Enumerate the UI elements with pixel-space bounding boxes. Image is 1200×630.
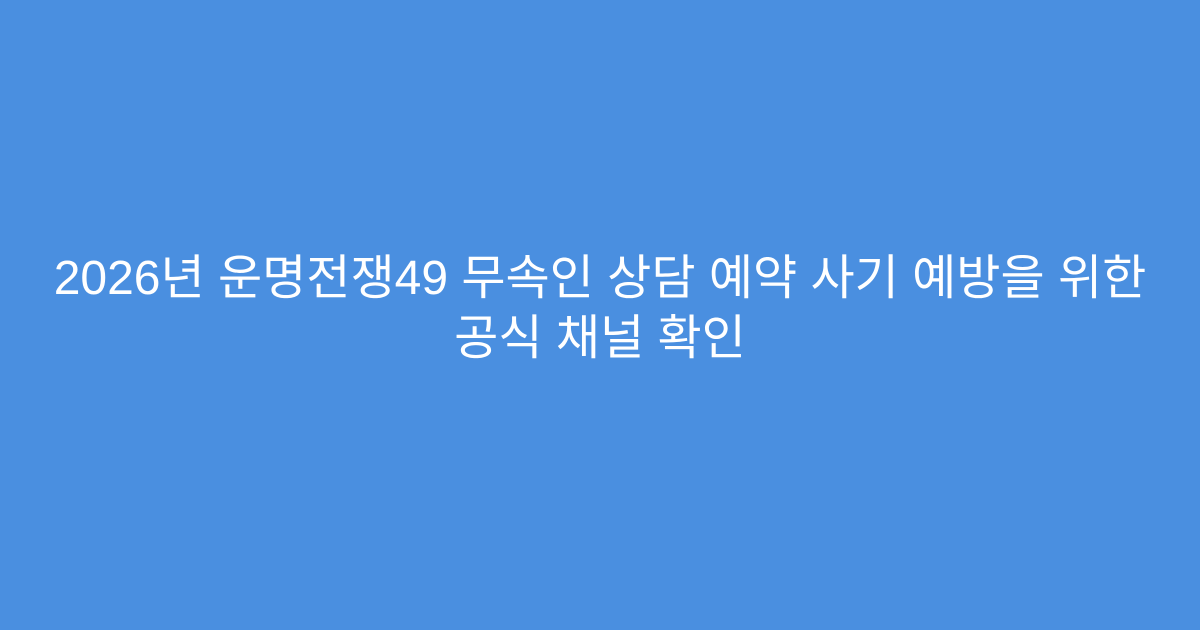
card-title: 2026년 운명전쟁49 무속인 상담 예약 사기 예방을 위한 공식 채널 확… xyxy=(53,249,1147,369)
social-card-canvas: 2026년 운명전쟁49 무속인 상담 예약 사기 예방을 위한 공식 채널 확… xyxy=(0,0,1200,630)
